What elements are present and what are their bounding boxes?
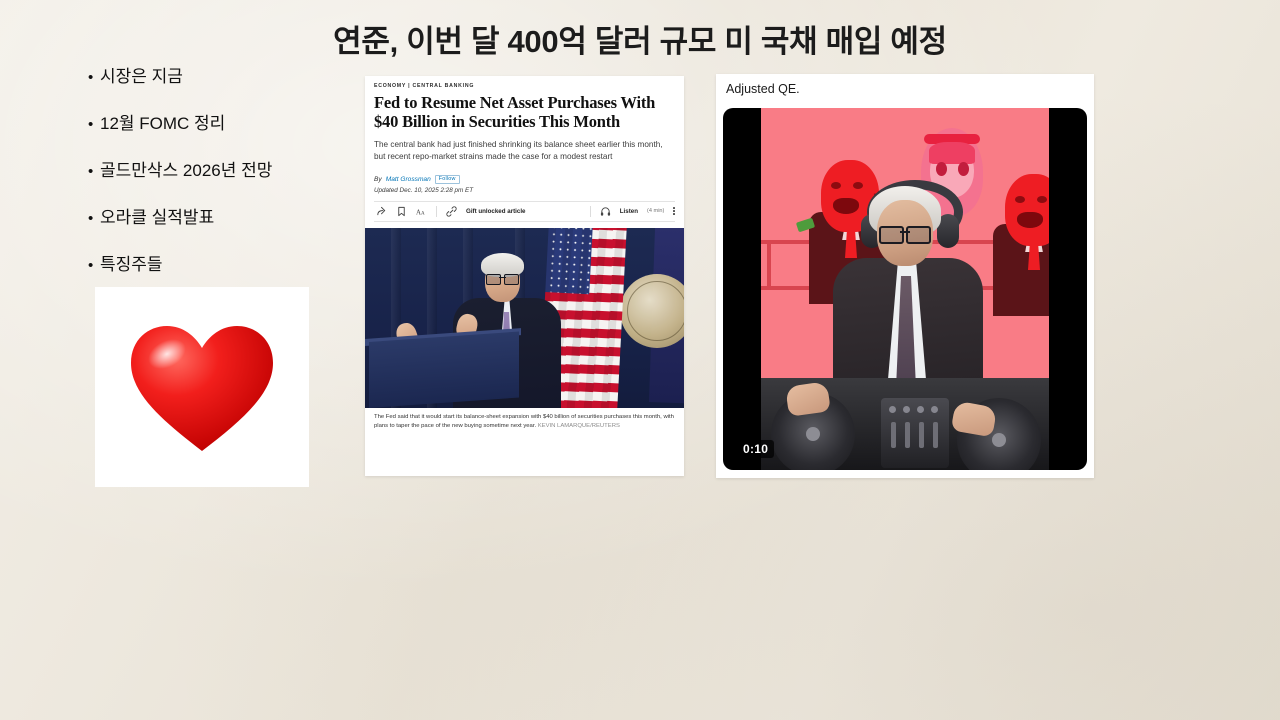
bullet-marker-icon: • xyxy=(88,70,100,85)
list-item-label: 오라클 실적발표 xyxy=(100,203,214,228)
link-icon[interactable] xyxy=(446,206,457,217)
article-headline: Fed to Resume Net Asset Purchases With $… xyxy=(374,94,675,132)
article-toolbar: A A Gift unlocked article xyxy=(374,201,675,222)
photo-caption: The Fed said that it would start its bal… xyxy=(365,408,684,440)
bullet-marker-icon: • xyxy=(88,117,100,132)
page-title: 연준, 이번 달 400억 달러 규모 미 국채 매입 예정 xyxy=(0,16,1280,61)
author-link[interactable]: Matt Grossman xyxy=(386,176,431,183)
byline-prefix: By xyxy=(374,176,382,183)
video-post-card[interactable]: Adjusted QE. RR xyxy=(716,74,1094,478)
more-options-icon[interactable] xyxy=(673,207,675,215)
svg-text:A: A xyxy=(421,210,425,216)
listen-label[interactable]: Listen xyxy=(620,208,638,215)
photo-credit: KEVIN LAMARQUE/REUTERS xyxy=(538,423,620,429)
article-summary: The central bank had just finished shrin… xyxy=(374,139,675,164)
bullet-marker-icon: • xyxy=(88,164,100,179)
gift-article-label[interactable]: Gift unlocked article xyxy=(466,208,525,215)
federal-reserve-seal xyxy=(620,274,684,348)
article-photo xyxy=(365,228,684,408)
video-player[interactable]: RR RR xyxy=(723,108,1087,470)
article-kicker[interactable]: ECONOMY | CENTRAL BANKING xyxy=(374,83,675,89)
red-heart-icon xyxy=(127,320,277,454)
headphones-icon[interactable] xyxy=(600,206,611,217)
news-article-card[interactable]: ECONOMY | CENTRAL BANKING Fed to Resume … xyxy=(365,76,684,476)
heart-image-card xyxy=(95,287,309,487)
article-timestamp: Updated Dec. 10, 2025 2:28 pm ET xyxy=(374,187,675,194)
list-item: • 오라클 실적발표 xyxy=(88,203,348,228)
follow-button[interactable]: Follow xyxy=(435,175,460,184)
bullet-marker-icon: • xyxy=(88,258,100,273)
svg-text:A: A xyxy=(416,209,421,216)
photo-caption-text: The Fed said that it would start its bal… xyxy=(374,414,674,430)
video-caption: Adjusted QE. xyxy=(716,74,1094,102)
byline: By Matt Grossman Follow xyxy=(374,175,675,184)
toolbar-divider xyxy=(436,206,437,217)
bullet-marker-icon: • xyxy=(88,211,100,226)
bullet-list: • 시장은 지금 • 12월 FOMC 정리 • 골드만삭스 2026년 전망 … xyxy=(88,62,348,297)
list-item-label: 골드만삭스 2026년 전망 xyxy=(100,156,272,181)
listen-duration: (4 min) xyxy=(647,208,664,214)
list-item: • 골드만삭스 2026년 전망 xyxy=(88,156,348,181)
toolbar-divider xyxy=(590,206,591,217)
meme-figure-right xyxy=(1005,174,1049,246)
presentation-slide: 연준, 이번 달 400억 달러 규모 미 국채 매입 예정 • 시장은 지금 … xyxy=(0,0,1280,720)
list-item-label: 특징주들 xyxy=(100,250,163,275)
list-item-label: 시장은 지금 xyxy=(100,62,183,87)
video-timestamp: 0:10 xyxy=(737,440,774,458)
bookmark-icon[interactable] xyxy=(396,206,407,217)
share-icon[interactable] xyxy=(376,206,387,217)
video-scene: RR RR xyxy=(761,108,1049,470)
text-size-icon[interactable]: A A xyxy=(416,206,427,217)
list-item-label: 12월 FOMC 정리 xyxy=(100,109,225,134)
list-item: • 시장은 지금 xyxy=(88,62,348,87)
list-item: • 12월 FOMC 정리 xyxy=(88,109,348,134)
list-item: • 특징주들 xyxy=(88,250,348,275)
